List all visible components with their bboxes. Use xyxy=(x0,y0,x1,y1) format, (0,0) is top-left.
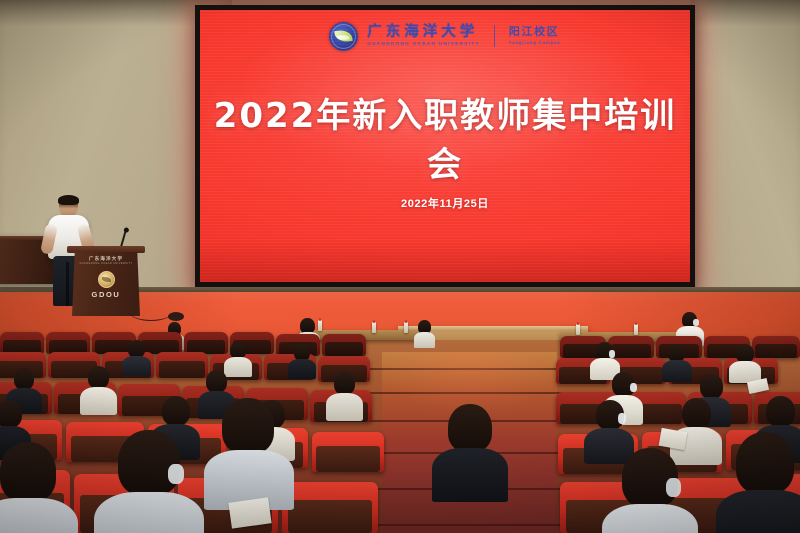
podium-university-en: GUANGDONG OCEAN UNIVERSITY xyxy=(70,262,142,265)
water-bottle xyxy=(372,322,376,333)
screen-bottom-shade xyxy=(200,240,690,282)
seat xyxy=(156,352,208,378)
seat xyxy=(752,336,800,358)
water-bottle xyxy=(404,322,408,333)
seat xyxy=(312,432,384,472)
screenshot-root: 广东海洋大学 GUANGDONG OCEAN UNIVERSITY 阳江校区 Y… xyxy=(0,0,800,533)
presenter-hair xyxy=(58,195,79,205)
floor-equipment xyxy=(168,312,184,321)
water-bottle xyxy=(576,324,580,335)
podium-desktop xyxy=(67,246,145,253)
handout-paper xyxy=(228,497,271,528)
led-screen: 广东海洋大学 GUANGDONG OCEAN UNIVERSITY 阳江校区 Y… xyxy=(200,10,690,282)
seat xyxy=(322,334,366,356)
seat xyxy=(0,332,44,354)
led-screen-frame: 广东海洋大学 GUANGDONG OCEAN UNIVERSITY 阳江校区 Y… xyxy=(195,5,695,287)
seat xyxy=(184,332,228,354)
water-bottle xyxy=(634,324,638,335)
podium-gold-emblem-icon xyxy=(98,271,115,288)
podium-abbreviation: GDOU xyxy=(70,290,142,299)
right-wall xyxy=(690,0,800,305)
water-bottle xyxy=(318,320,322,331)
seat xyxy=(46,332,90,354)
seat xyxy=(282,482,378,533)
floor-cable xyxy=(128,300,174,321)
